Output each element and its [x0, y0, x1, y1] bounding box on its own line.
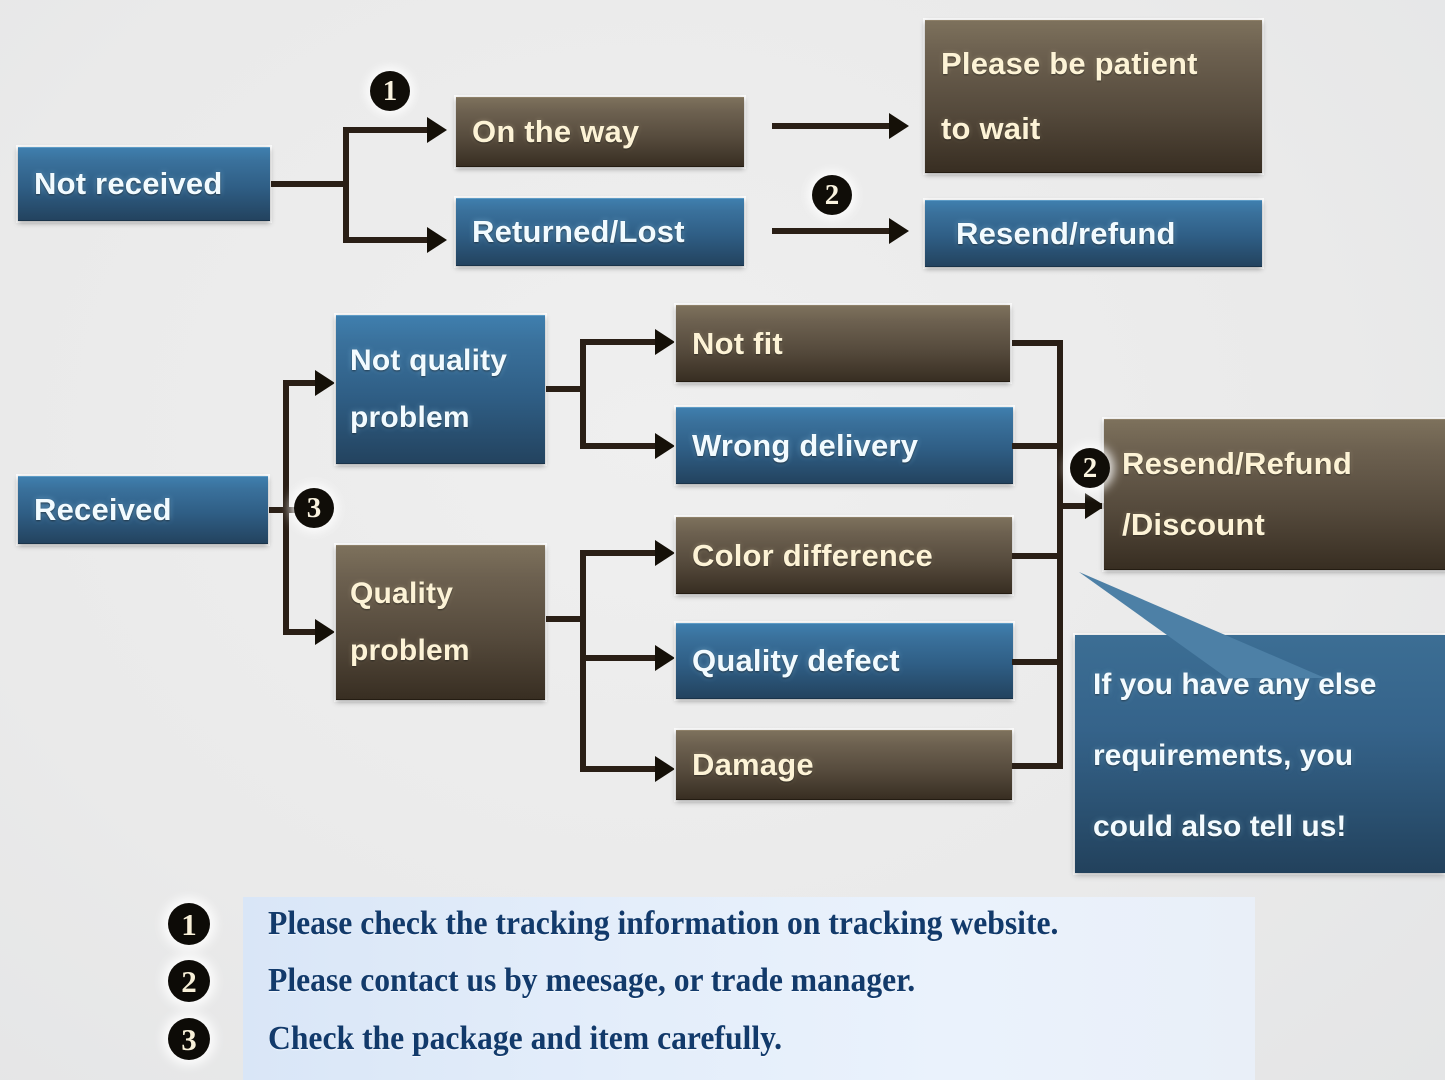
arrow-to-qualitydefect	[655, 645, 675, 671]
legend-row-1: 1 Please check the tracking information …	[168, 903, 1118, 945]
connector-notreceived-vertical	[343, 127, 349, 243]
connector-notreceived-stem	[271, 181, 349, 187]
connector-to-notfit	[580, 339, 660, 345]
bubble-line3: could also tell us!	[1093, 810, 1427, 844]
arrow-to-notfit	[655, 329, 675, 355]
arrow-to-resend	[889, 218, 909, 244]
node-not-fit[interactable]: Not fit	[676, 305, 1010, 382]
node-on-the-way[interactable]: On the way	[456, 97, 744, 167]
legend-marker-3: 3	[168, 1018, 210, 1060]
node-color-difference-label: Color difference	[692, 538, 996, 574]
connector-returnedlost-to-resend	[772, 228, 892, 234]
arrow-to-patient	[889, 113, 909, 139]
legend-marker-1: 1	[168, 903, 210, 945]
connector-notquality-vertical	[580, 339, 586, 449]
connector-to-returnedlost	[343, 237, 428, 243]
marker-one: 1	[370, 71, 410, 111]
node-not-fit-label: Not fit	[692, 326, 994, 362]
collector-stub-wrongdelivery	[1012, 443, 1060, 449]
connector-to-notquality	[283, 380, 318, 386]
connector-to-qualitydefect	[580, 655, 660, 661]
connector-quality-vertical	[580, 550, 586, 772]
connector-received-vertical	[283, 380, 289, 635]
node-wrong-delivery-label: Wrong delivery	[692, 428, 997, 464]
node-damage-label: Damage	[692, 747, 996, 783]
marker-three: 3	[294, 488, 334, 528]
node-resend-discount-line1: Resend/Refund	[1122, 446, 1431, 482]
node-resend-refund[interactable]: Resend/refund	[925, 200, 1262, 267]
node-patient-line2: to wait	[941, 111, 1246, 147]
node-quality-defect-label: Quality defect	[692, 643, 997, 679]
node-wrong-delivery[interactable]: Wrong delivery	[676, 407, 1013, 484]
arrow-to-damage	[655, 756, 675, 782]
node-not-quality-line2: problem	[350, 401, 531, 435]
collector-vertical	[1057, 340, 1063, 769]
node-patient-line1: Please be patient	[941, 46, 1246, 82]
speech-bubble-tail	[1075, 570, 1325, 680]
node-damage[interactable]: Damage	[676, 730, 1012, 800]
node-not-quality-problem[interactable]: Not quality problem	[336, 315, 545, 464]
legend-text-3: Check the package and item carefully.	[268, 1020, 782, 1058]
collector-stub-notfit	[1012, 340, 1060, 346]
arrow-to-colordifference	[655, 540, 675, 566]
arrow-to-notquality	[315, 370, 335, 396]
marker-two-right: 2	[1070, 448, 1110, 488]
node-returned-lost-label: Returned/Lost	[472, 214, 728, 250]
node-quality-problem[interactable]: Quality problem	[336, 545, 545, 700]
arrow-to-returnedlost	[427, 227, 447, 253]
legend-row-3: 3 Check the package and item carefully.	[168, 1018, 821, 1060]
connector-ontheway-to-patient	[772, 123, 892, 129]
connector-to-ontheway	[343, 127, 428, 133]
node-received[interactable]: Received	[18, 476, 268, 544]
arrow-to-quality	[315, 619, 335, 645]
arrow-to-wrongdelivery	[655, 433, 675, 459]
node-quality-line2: problem	[350, 634, 531, 668]
legend-row-2: 2 Please contact us by meesage, or trade…	[168, 960, 964, 1002]
node-resend-refund-discount[interactable]: Resend/Refund /Discount	[1104, 419, 1445, 570]
connector-to-colordifference	[580, 550, 660, 556]
legend-text-2: Please contact us by meesage, or trade m…	[268, 962, 915, 1000]
node-received-label: Received	[34, 492, 252, 528]
collector-stub-damage	[1012, 763, 1060, 769]
connector-to-quality	[283, 629, 318, 635]
collector-stub-qualitydefect	[1012, 659, 1060, 665]
node-not-quality-line1: Not quality	[350, 344, 531, 378]
bubble-line2: requirements, you	[1093, 739, 1427, 773]
connector-to-wrongdelivery	[580, 443, 660, 449]
collector-stub-colordifference	[1012, 553, 1060, 559]
node-quality-line1: Quality	[350, 577, 531, 611]
node-please-be-patient[interactable]: Please be patient to wait	[925, 20, 1262, 173]
arrow-to-resend-discount	[1085, 493, 1105, 519]
marker-two-top: 2	[812, 175, 852, 215]
node-resend-refund-label: Resend/refund	[956, 216, 1246, 252]
node-on-the-way-label: On the way	[472, 114, 728, 150]
node-not-received-label: Not received	[34, 166, 254, 202]
node-quality-defect[interactable]: Quality defect	[676, 623, 1013, 699]
node-not-received[interactable]: Not received	[18, 147, 270, 221]
node-returned-lost[interactable]: Returned/Lost	[456, 198, 744, 266]
connector-to-damage	[580, 766, 660, 772]
node-resend-discount-line2: /Discount	[1122, 507, 1431, 543]
arrow-to-ontheway	[427, 117, 447, 143]
legend-marker-2: 2	[168, 960, 210, 1002]
flowchart-canvas: Not received 1 On the way Returned/Lost …	[0, 0, 1445, 1080]
node-color-difference[interactable]: Color difference	[676, 517, 1012, 594]
legend-text-1: Please check the tracking information on…	[268, 905, 1058, 943]
